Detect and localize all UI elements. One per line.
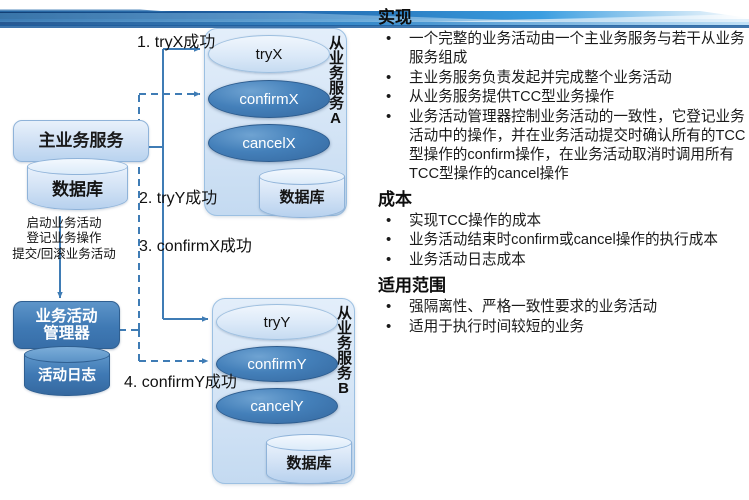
slave-a-database-label: 数据库	[259, 168, 345, 218]
bullet-glyph: •	[386, 211, 391, 230]
slave-b-database: 数据库	[266, 434, 352, 484]
bullet-item: • 业务活动日志成本	[378, 251, 746, 270]
bullet-item: • 适用于执行时间较短的业务	[378, 318, 746, 337]
bullet-text: 适用于执行时间较短的业务	[409, 319, 584, 335]
ellipse-cancely[interactable]: cancelY	[216, 388, 338, 424]
manager-label-line-1: 业务活动	[35, 308, 97, 325]
explanation-panel: 实现 • 一个完整的业务活动由一个主业务服务与若干从业务服务组成 • 主业务服务…	[378, 8, 746, 494]
bullet-text: 业务活动日志成本	[409, 252, 526, 268]
tcc-architecture-diagram: 从业务服务A tryX confirmX cancelX 数据库 从业务服务B …	[0, 16, 372, 500]
flow-note-line-2: 登记业务操作	[0, 231, 128, 246]
bullet-text: 业务活动管理器控制业务活动的一致性，它登记业务活动中的操作，并在业务活动提交时确…	[409, 109, 745, 181]
slide-canvas: 从业务服务A tryX confirmX cancelX 数据库 从业务服务B …	[0, 0, 749, 500]
bullet-text: 一个完整的业务活动由一个主业务服务与若干从业务服务组成	[409, 31, 745, 66]
bullet-glyph: •	[386, 68, 391, 87]
ellipse-tryy[interactable]: tryY	[216, 304, 338, 340]
step-2-label: 2. tryY成功	[139, 184, 217, 208]
slave-a-database: 数据库	[259, 168, 345, 218]
section-scope: 适用范围 • 强隔离性、严格一致性要求的业务活动 • 适用于执行时间较短的业务	[378, 276, 746, 337]
bullet-text: 业务活动结束时confirm或cancel操作的执行成本	[409, 232, 718, 248]
section-heading: 实现	[378, 8, 746, 28]
section-cost: 成本 • 实现TCC操作的成本 • 业务活动结束时confirm或cancel操…	[378, 190, 746, 270]
bullet-glyph: •	[386, 250, 391, 269]
bullet-item: • 一个完整的业务活动由一个主业务服务与若干从业务服务组成	[378, 30, 746, 68]
ellipse-tryx[interactable]: tryX	[208, 35, 330, 73]
manager-flow-note: 启动业务活动 登记业务操作 提交/回滚业务活动	[0, 216, 128, 262]
activity-log-label: 活动日志	[24, 346, 110, 396]
manager-label-line-2: 管理器	[43, 325, 90, 342]
bullet-text: 主业务服务负责发起并完成整个业务活动	[409, 70, 672, 86]
activity-log-store: 活动日志	[24, 346, 110, 396]
bullet-item: • 业务活动结束时confirm或cancel操作的执行成本	[378, 231, 746, 250]
bullet-item: • 业务活动管理器控制业务活动的一致性，它登记业务活动中的操作，并在业务活动提交…	[378, 108, 746, 183]
step-1-label: 1. tryX成功	[137, 28, 215, 52]
bullet-glyph: •	[386, 230, 391, 249]
slave-b-database-label: 数据库	[266, 434, 352, 484]
bullet-text: 强隔离性、严格一致性要求的业务活动	[409, 299, 657, 315]
bullet-item: • 实现TCC操作的成本	[378, 212, 746, 231]
flow-note-line-1: 启动业务活动	[0, 216, 128, 231]
main-service-database: 数据库	[27, 158, 128, 210]
bullet-glyph: •	[386, 87, 391, 106]
main-business-service-box[interactable]: 主业务服务	[13, 120, 149, 162]
section-heading: 适用范围	[378, 276, 746, 296]
bullet-text: 从业务服务提供TCC型业务操作	[409, 89, 614, 105]
bullet-glyph: •	[386, 107, 391, 126]
main-service-database-label: 数据库	[27, 158, 128, 210]
business-activity-manager-box[interactable]: 业务活动 管理器	[13, 301, 120, 349]
bullet-glyph: •	[386, 317, 391, 336]
bullet-item: • 强隔离性、严格一致性要求的业务活动	[378, 298, 746, 317]
bullet-text: 实现TCC操作的成本	[409, 213, 541, 229]
section-implementation: 实现 • 一个完整的业务活动由一个主业务服务与若干从业务服务组成 • 主业务服务…	[378, 8, 746, 184]
bullet-glyph: •	[386, 297, 391, 316]
bullet-glyph: •	[386, 29, 391, 48]
step-3-label: 3. confirmX成功	[139, 232, 252, 256]
section-heading: 成本	[378, 190, 746, 210]
flow-note-line-3: 提交/回滚业务活动	[0, 247, 128, 262]
ellipse-cancelx[interactable]: cancelX	[208, 124, 330, 162]
ellipse-confirmx[interactable]: confirmX	[208, 80, 330, 118]
bullet-item: • 从业务服务提供TCC型业务操作	[378, 88, 746, 107]
bullet-item: • 主业务服务负责发起并完成整个业务活动	[378, 69, 746, 88]
step-4-label: 4. confirmY成功	[124, 368, 237, 392]
